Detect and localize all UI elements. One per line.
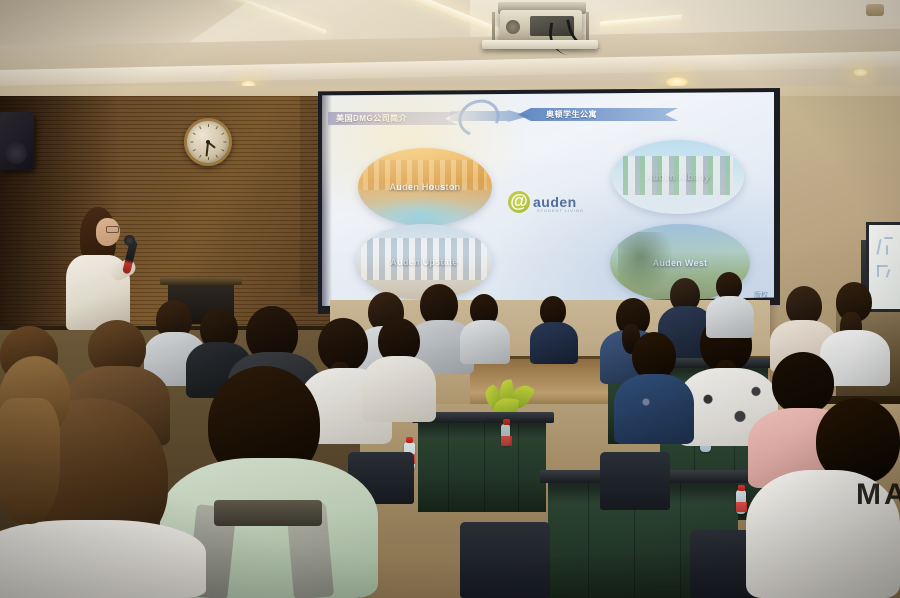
skirted-table: [418, 420, 546, 512]
auden-logo: auden STUDENT LIVING: [508, 189, 618, 215]
smoke-detector-icon: [866, 4, 884, 16]
laptop: [440, 412, 486, 421]
chair: [460, 522, 550, 598]
clock-center-pin: [206, 140, 210, 144]
audience-body: [362, 356, 436, 422]
slide-photo-albany: Auden Albany: [612, 140, 744, 214]
wall-clock: [184, 118, 232, 166]
audience-body: [530, 322, 578, 364]
slide-photo-upstate-label: Auden Upstate: [356, 257, 492, 267]
audience-head: [632, 332, 676, 380]
projection-screen: 美国DMG公司简介 奥顿学生公寓 Auden Houston Auden Alb…: [322, 92, 774, 306]
shirt-text: MAR: [856, 478, 900, 512]
slide-photo-albany-label: Auden Albany: [612, 172, 744, 182]
slide-banner-right: 奥顿学生公寓: [518, 108, 678, 121]
auden-logo-subtext: STUDENT LIVING: [537, 208, 584, 213]
seminar-room-photo: 美国DMG公司简介 奥顿学生公寓 Auden Houston Auden Alb…: [0, 0, 900, 598]
water-bottle: [736, 490, 746, 514]
at-symbol-icon: [508, 191, 530, 213]
backpack: [214, 500, 322, 526]
audience-long-hair: [0, 398, 60, 524]
podium-top: [160, 278, 242, 285]
ceiling: [0, 0, 900, 96]
ceiling-light-icon: [600, 14, 682, 27]
clock-minute-hand: [206, 142, 209, 156]
microphone-head-icon: [124, 235, 135, 246]
audience-body: [614, 374, 694, 444]
slide-photo-upstate: Auden Upstate: [356, 224, 492, 300]
audience-head: [772, 352, 834, 414]
audience-body: [0, 520, 206, 598]
slide-photo-west-label: Auden West: [610, 258, 750, 268]
slide-arrow-icon: [450, 110, 530, 122]
ceiling-spotlight-icon: [852, 68, 869, 77]
audience-body: [706, 296, 754, 338]
slide-banner-right-label: 奥顿学生公寓: [546, 109, 597, 120]
audience-body: [460, 320, 510, 364]
projector-vent-icon: [506, 20, 520, 34]
chair: [600, 452, 670, 510]
wall-speaker: [0, 112, 34, 170]
glasses-icon: [106, 226, 119, 233]
slide-photo-houston-label: Auden Houston: [358, 182, 492, 192]
slide-banner-left: 美国DMG公司简介: [328, 112, 458, 125]
slide-photo-houston: Auden Houston: [358, 148, 492, 226]
projector-plate: [482, 40, 598, 49]
slide-banner-left-label: 美国DMG公司简介: [336, 113, 407, 124]
water-bottle: [501, 424, 510, 446]
